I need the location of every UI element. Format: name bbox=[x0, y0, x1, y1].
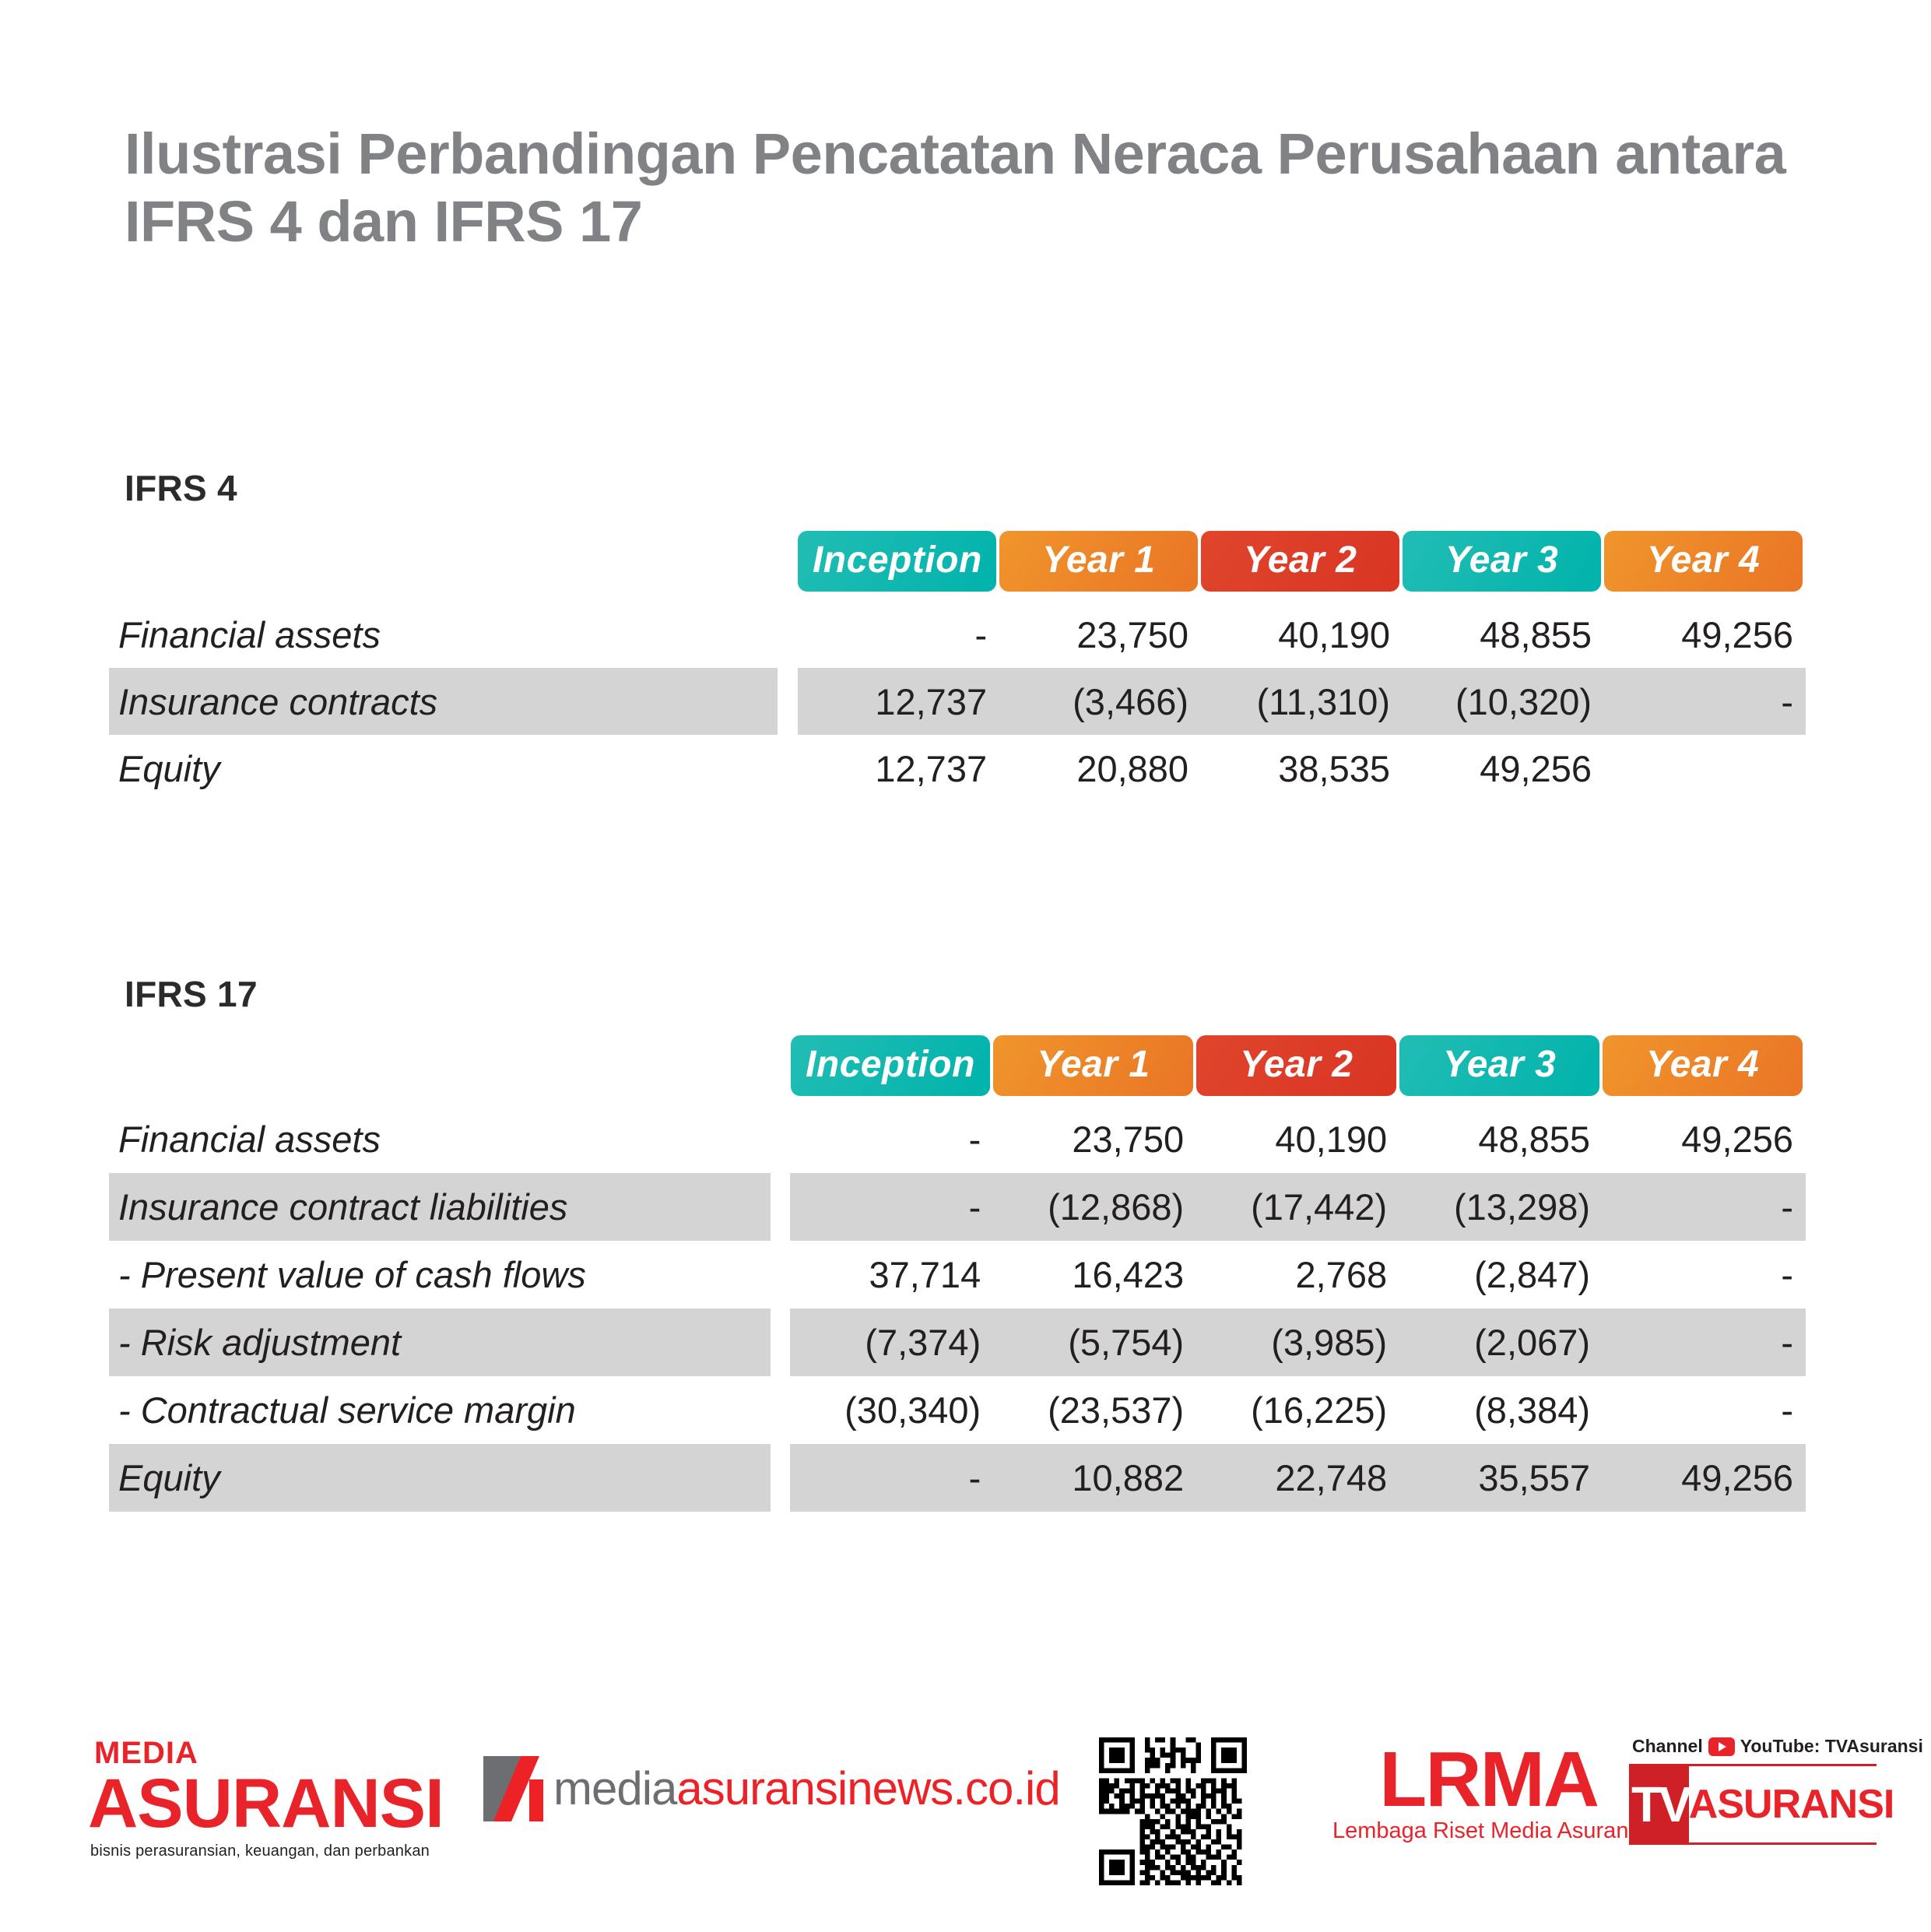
logo-website[interactable]: mediaasuransinews.co.id bbox=[480, 1753, 1060, 1825]
table-cell: (8,384) bbox=[1399, 1376, 1603, 1444]
column-header-pill[interactable]: Year 4 bbox=[1604, 531, 1803, 592]
table-cell: (17,442) bbox=[1196, 1173, 1399, 1241]
table-header-row: InceptionYear 1Year 2Year 3Year 4 bbox=[109, 531, 1806, 592]
row-gap-spacer bbox=[778, 735, 798, 802]
column-header-cell: Year 4 bbox=[1603, 1035, 1806, 1096]
table-cell: (13,298) bbox=[1399, 1173, 1603, 1241]
table-ifrs17: InceptionYear 1Year 2Year 3Year 4Financi… bbox=[109, 1035, 1806, 1512]
tv-badge-right: ASURANSI bbox=[1689, 1766, 1894, 1842]
table-cell: 2,768 bbox=[1196, 1241, 1399, 1308]
table-cell: 35,557 bbox=[1399, 1444, 1603, 1512]
row-label: Insurance contract liabilities bbox=[109, 1173, 771, 1241]
table-cell: (3,466) bbox=[999, 668, 1201, 735]
table-cell: 23,750 bbox=[999, 601, 1201, 668]
row-gap-spacer bbox=[771, 1444, 791, 1512]
table-cell: (2,067) bbox=[1399, 1308, 1603, 1376]
column-header-cell: Year 3 bbox=[1403, 531, 1604, 592]
column-header-cell: Inception bbox=[791, 1035, 994, 1096]
table-header-row: InceptionYear 1Year 2Year 3Year 4 bbox=[109, 1035, 1806, 1096]
table-cell: 49,256 bbox=[1603, 1105, 1806, 1173]
tv-badge-asuransi-text: ASURANSI bbox=[1689, 1784, 1894, 1825]
column-header-pill[interactable]: Year 2 bbox=[1196, 1035, 1396, 1096]
table-row: - Present value of cash flows37,71416,42… bbox=[109, 1241, 1806, 1308]
row-label: Insurance contracts bbox=[109, 668, 778, 735]
table-cell: 10,882 bbox=[993, 1444, 1196, 1512]
logo-tv-asuransi[interactable]: Channel YouTube: TVAsuransi TV ASURANSI bbox=[1629, 1736, 1923, 1845]
header-gap-spacer bbox=[771, 1035, 791, 1096]
lrma-acronym: LRMA bbox=[1332, 1744, 1645, 1815]
table-row: Insurance contracts12,737(3,466)(11,310)… bbox=[109, 668, 1806, 735]
row-gap-spacer bbox=[771, 1241, 791, 1308]
column-header-pill[interactable]: Year 2 bbox=[1201, 531, 1399, 592]
lrma-expansion: Lembaga Riset Media Asuransi bbox=[1332, 1818, 1645, 1844]
column-header-pill[interactable]: Year 1 bbox=[999, 531, 1198, 592]
table-cell: 40,190 bbox=[1201, 601, 1403, 668]
column-header-cell: Inception bbox=[798, 531, 999, 592]
table-cell: 37,714 bbox=[790, 1241, 993, 1308]
tv-badge-left: TV bbox=[1631, 1766, 1689, 1842]
column-header-cell: Year 1 bbox=[993, 1035, 1196, 1096]
tv-badge-tv-text: TV bbox=[1631, 1779, 1689, 1829]
tv-channel-prefix: Channel bbox=[1632, 1736, 1703, 1757]
page-title: Ilustrasi Perbandingan Pencatatan Neraca… bbox=[125, 121, 1821, 255]
table-cell: 12,737 bbox=[798, 668, 999, 735]
table-cell: (23,537) bbox=[993, 1376, 1196, 1444]
row-gap-spacer bbox=[778, 668, 798, 735]
table-cell: - bbox=[1604, 668, 1806, 735]
table-row: Equity12,73720,88038,53549,256 bbox=[109, 735, 1806, 802]
table-cell: (12,868) bbox=[993, 1173, 1196, 1241]
row-label: Equity bbox=[109, 735, 778, 802]
website-url-prefix: media bbox=[553, 1762, 676, 1814]
table-cell: 40,190 bbox=[1196, 1105, 1399, 1173]
table-cell: (3,985) bbox=[1196, 1308, 1399, 1376]
table-row: Financial assets-23,75040,19048,85549,25… bbox=[109, 1105, 1806, 1173]
media-asuransi-tagline: bisnis perasuransian, keuangan, dan perb… bbox=[90, 1842, 444, 1860]
table-cell: 22,748 bbox=[1196, 1444, 1399, 1512]
column-header-pill[interactable]: Year 1 bbox=[993, 1035, 1193, 1096]
table-cell: - bbox=[1603, 1241, 1806, 1308]
table-cell: - bbox=[1603, 1173, 1806, 1241]
table-row: Insurance contract liabilities-(12,868)(… bbox=[109, 1173, 1806, 1241]
table-cell: (7,374) bbox=[790, 1308, 993, 1376]
table-cell: - bbox=[790, 1173, 993, 1241]
table-cell: 12,737 bbox=[798, 735, 999, 802]
table-row: Equity-10,88222,74835,55749,256 bbox=[109, 1444, 1806, 1512]
row-label: - Contractual service margin bbox=[109, 1376, 771, 1444]
m-monogram-icon bbox=[480, 1753, 553, 1825]
column-header-cell: Year 1 bbox=[999, 531, 1201, 592]
tv-asuransi-badge: TV ASURANSI bbox=[1629, 1764, 1877, 1845]
table-cell: 23,750 bbox=[993, 1105, 1196, 1173]
media-asuransi-asuransi-text: ASURANSI bbox=[88, 1770, 444, 1836]
row-label: - Risk adjustment bbox=[109, 1308, 771, 1376]
logo-media-asuransi: MEDIA ASURANSI bisnis perasuransian, keu… bbox=[88, 1737, 444, 1860]
tv-channel-line: Channel YouTube: TVAsuransi bbox=[1632, 1736, 1923, 1757]
row-label: - Present value of cash flows bbox=[109, 1241, 771, 1308]
column-header-cell: Year 3 bbox=[1399, 1035, 1603, 1096]
table-cell: - bbox=[798, 601, 999, 668]
column-header-pill[interactable]: Inception bbox=[791, 1035, 991, 1096]
table-cell: 38,535 bbox=[1201, 735, 1403, 802]
youtube-icon bbox=[1708, 1737, 1735, 1756]
row-gap-spacer bbox=[771, 1173, 791, 1241]
tv-channel-suffix: YouTube: TVAsuransi bbox=[1740, 1736, 1923, 1757]
header-row-label-spacer bbox=[109, 531, 778, 592]
section-heading-ifrs4: IFRS 4 bbox=[125, 467, 237, 509]
header-row-label-spacer bbox=[109, 1035, 771, 1096]
row-gap-spacer bbox=[771, 1308, 791, 1376]
column-header-pill[interactable]: Inception bbox=[798, 531, 996, 592]
table-row: - Contractual service margin(30,340)(23,… bbox=[109, 1376, 1806, 1444]
column-header-cell: Year 2 bbox=[1196, 1035, 1399, 1096]
table-cell: (2,847) bbox=[1399, 1241, 1603, 1308]
column-header-pill[interactable]: Year 3 bbox=[1403, 531, 1601, 592]
column-header-pill[interactable]: Year 4 bbox=[1603, 1035, 1803, 1096]
column-header-cell: Year 2 bbox=[1201, 531, 1403, 592]
row-label: Financial assets bbox=[109, 601, 778, 668]
row-label: Financial assets bbox=[109, 1105, 771, 1173]
table-cell: 48,855 bbox=[1403, 601, 1604, 668]
table-row: - Risk adjustment(7,374)(5,754)(3,985)(2… bbox=[109, 1308, 1806, 1376]
row-gap-spacer bbox=[771, 1376, 791, 1444]
column-header-pill[interactable]: Year 3 bbox=[1399, 1035, 1599, 1096]
header-gap-spacer bbox=[778, 531, 799, 592]
table-cell: - bbox=[790, 1444, 993, 1512]
website-url-suffix: asuransinews.co.id bbox=[676, 1762, 1059, 1814]
table-row: Financial assets-23,75040,19048,85549,25… bbox=[109, 601, 1806, 668]
table-cell: (16,225) bbox=[1196, 1376, 1399, 1444]
table-cell: 48,855 bbox=[1399, 1105, 1603, 1173]
table-cell: (10,320) bbox=[1403, 668, 1604, 735]
row-gap-spacer bbox=[771, 1105, 791, 1173]
row-gap-spacer bbox=[778, 601, 798, 668]
section-heading-ifrs17: IFRS 17 bbox=[125, 973, 258, 1015]
website-url: mediaasuransinews.co.id bbox=[553, 1765, 1060, 1812]
table-cell: (30,340) bbox=[790, 1376, 993, 1444]
table-cell bbox=[1604, 735, 1806, 802]
table-cell: - bbox=[1603, 1308, 1806, 1376]
footer: MEDIA ASURANSI bisnis perasuransian, keu… bbox=[0, 1720, 1931, 1932]
table-cell: 16,423 bbox=[993, 1241, 1196, 1308]
logo-lrma: LRMA Lembaga Riset Media Asuransi bbox=[1332, 1744, 1645, 1844]
row-label: Equity bbox=[109, 1444, 771, 1512]
table-cell: - bbox=[790, 1105, 993, 1173]
table-cell: (11,310) bbox=[1201, 668, 1403, 735]
table-cell: 49,256 bbox=[1603, 1444, 1806, 1512]
table-cell: 49,256 bbox=[1604, 601, 1806, 668]
qr-code[interactable] bbox=[1099, 1737, 1247, 1885]
table-cell: 49,256 bbox=[1403, 735, 1604, 802]
table-ifrs4: InceptionYear 1Year 2Year 3Year 4Financi… bbox=[109, 531, 1806, 802]
table-cell: - bbox=[1603, 1376, 1806, 1444]
table-cell: (5,754) bbox=[993, 1308, 1196, 1376]
table-cell: 20,880 bbox=[999, 735, 1201, 802]
column-header-cell: Year 4 bbox=[1604, 531, 1806, 592]
